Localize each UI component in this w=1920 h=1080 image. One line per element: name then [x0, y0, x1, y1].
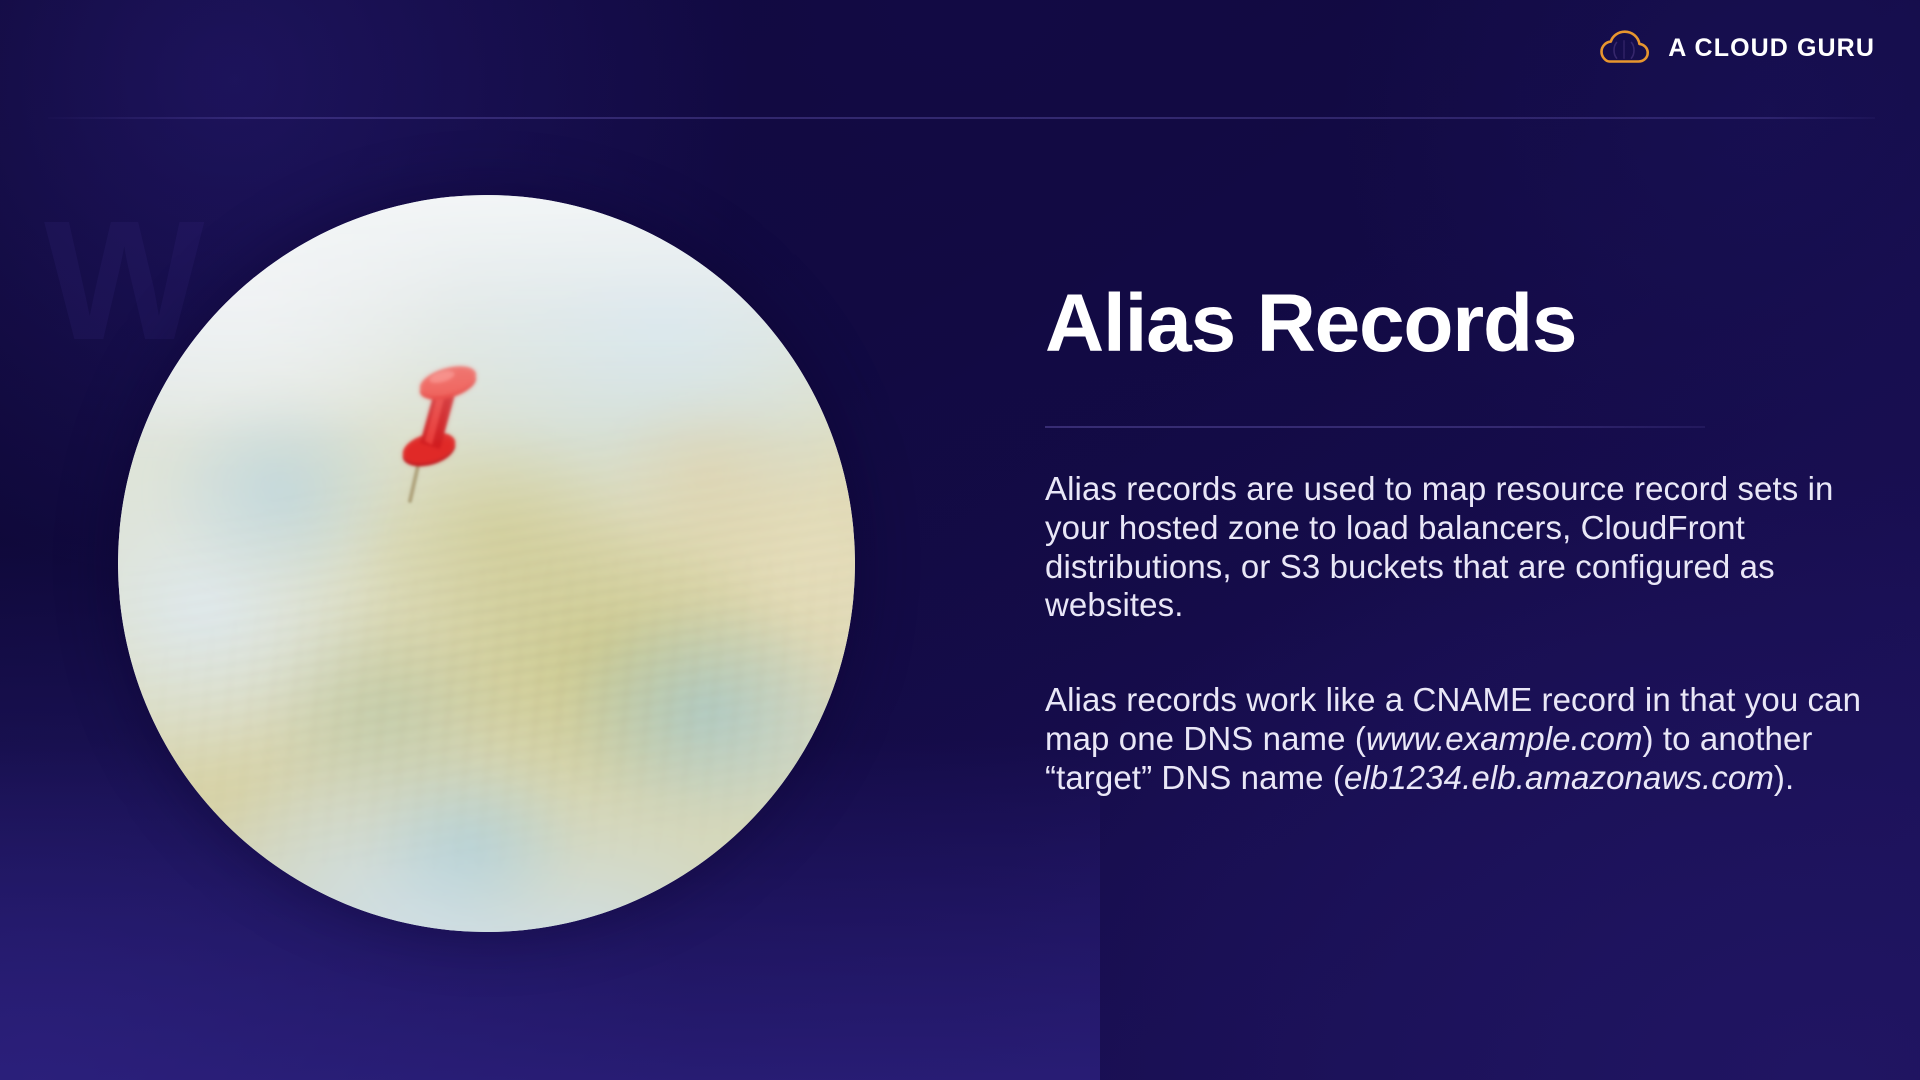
body-text-block: Alias records are used to map resource r… [1045, 470, 1875, 799]
brand-logo-text: A CLOUD GURU [1668, 34, 1875, 63]
header-divider [48, 117, 1875, 119]
plain-text: ). [1774, 759, 1794, 796]
content-column: Alias Records Alias records are used to … [1045, 282, 1875, 798]
map-pushpin-image [118, 195, 855, 932]
slide-root: W A CLOUD GURU [0, 0, 1920, 1080]
cloud-outline-icon [1596, 28, 1652, 68]
map-top-highlight [118, 195, 855, 932]
page-title: Alias Records [1045, 282, 1875, 366]
slide-header: A CLOUD GURU [0, 0, 1920, 120]
map-photo [118, 195, 855, 932]
title-divider [1045, 426, 1705, 428]
emphasized-text: elb1234.elb.amazonaws.com [1344, 759, 1774, 796]
emphasized-text: www.example.com [1366, 720, 1643, 757]
paragraph-2: Alias records work like a CNAME record i… [1045, 681, 1875, 798]
brand-logo: A CLOUD GURU [1596, 28, 1875, 68]
paragraph-1: Alias records are used to map resource r… [1045, 470, 1875, 626]
plain-text: Alias records are used to map resource r… [1045, 470, 1834, 624]
